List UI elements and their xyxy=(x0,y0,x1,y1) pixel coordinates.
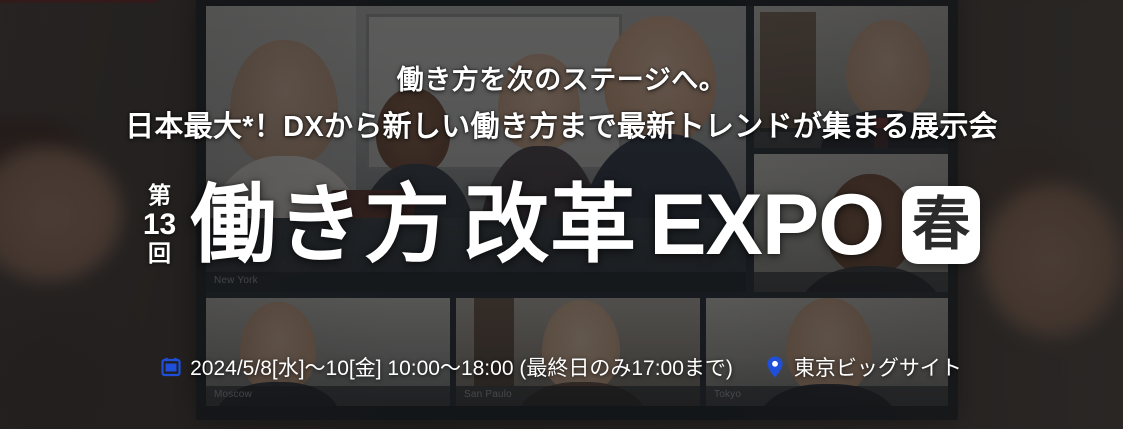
edition-badge: 第 13 回 xyxy=(143,184,176,265)
edition-number: 13 xyxy=(143,210,176,240)
event-title-row: 第 13 回 働き方改革EXPO 春 xyxy=(0,182,1123,268)
edition-prefix: 第 xyxy=(148,184,171,207)
event-venue-text: 東京ビッグサイト xyxy=(794,352,962,382)
page-title: 働き方改革EXPO xyxy=(190,182,884,268)
tagline-line-1: 働き方を次のステージへ。 xyxy=(0,58,1123,97)
edition-suffix: 回 xyxy=(148,242,171,265)
event-date-text: 2024/5/8[水]〜10[金] 10:00〜18:00 (最終日のみ17:0… xyxy=(190,352,733,382)
title-part-2: 改革 xyxy=(463,177,637,273)
calendar-icon xyxy=(161,357,181,377)
season-badge: 春 xyxy=(902,186,980,264)
event-banner: New York xyxy=(0,0,1123,429)
tagline-line-2: 日本最大*！DXから新しい働き方まで最新トレンドが集まる展示会 xyxy=(0,103,1123,145)
title-part-3: EXPO xyxy=(649,177,884,273)
title-part-1: 働き方 xyxy=(190,177,451,273)
event-info-bar: 2024/5/8[水]〜10[金] 10:00〜18:00 (最終日のみ17:0… xyxy=(0,352,1123,382)
map-pin-icon xyxy=(765,355,785,379)
